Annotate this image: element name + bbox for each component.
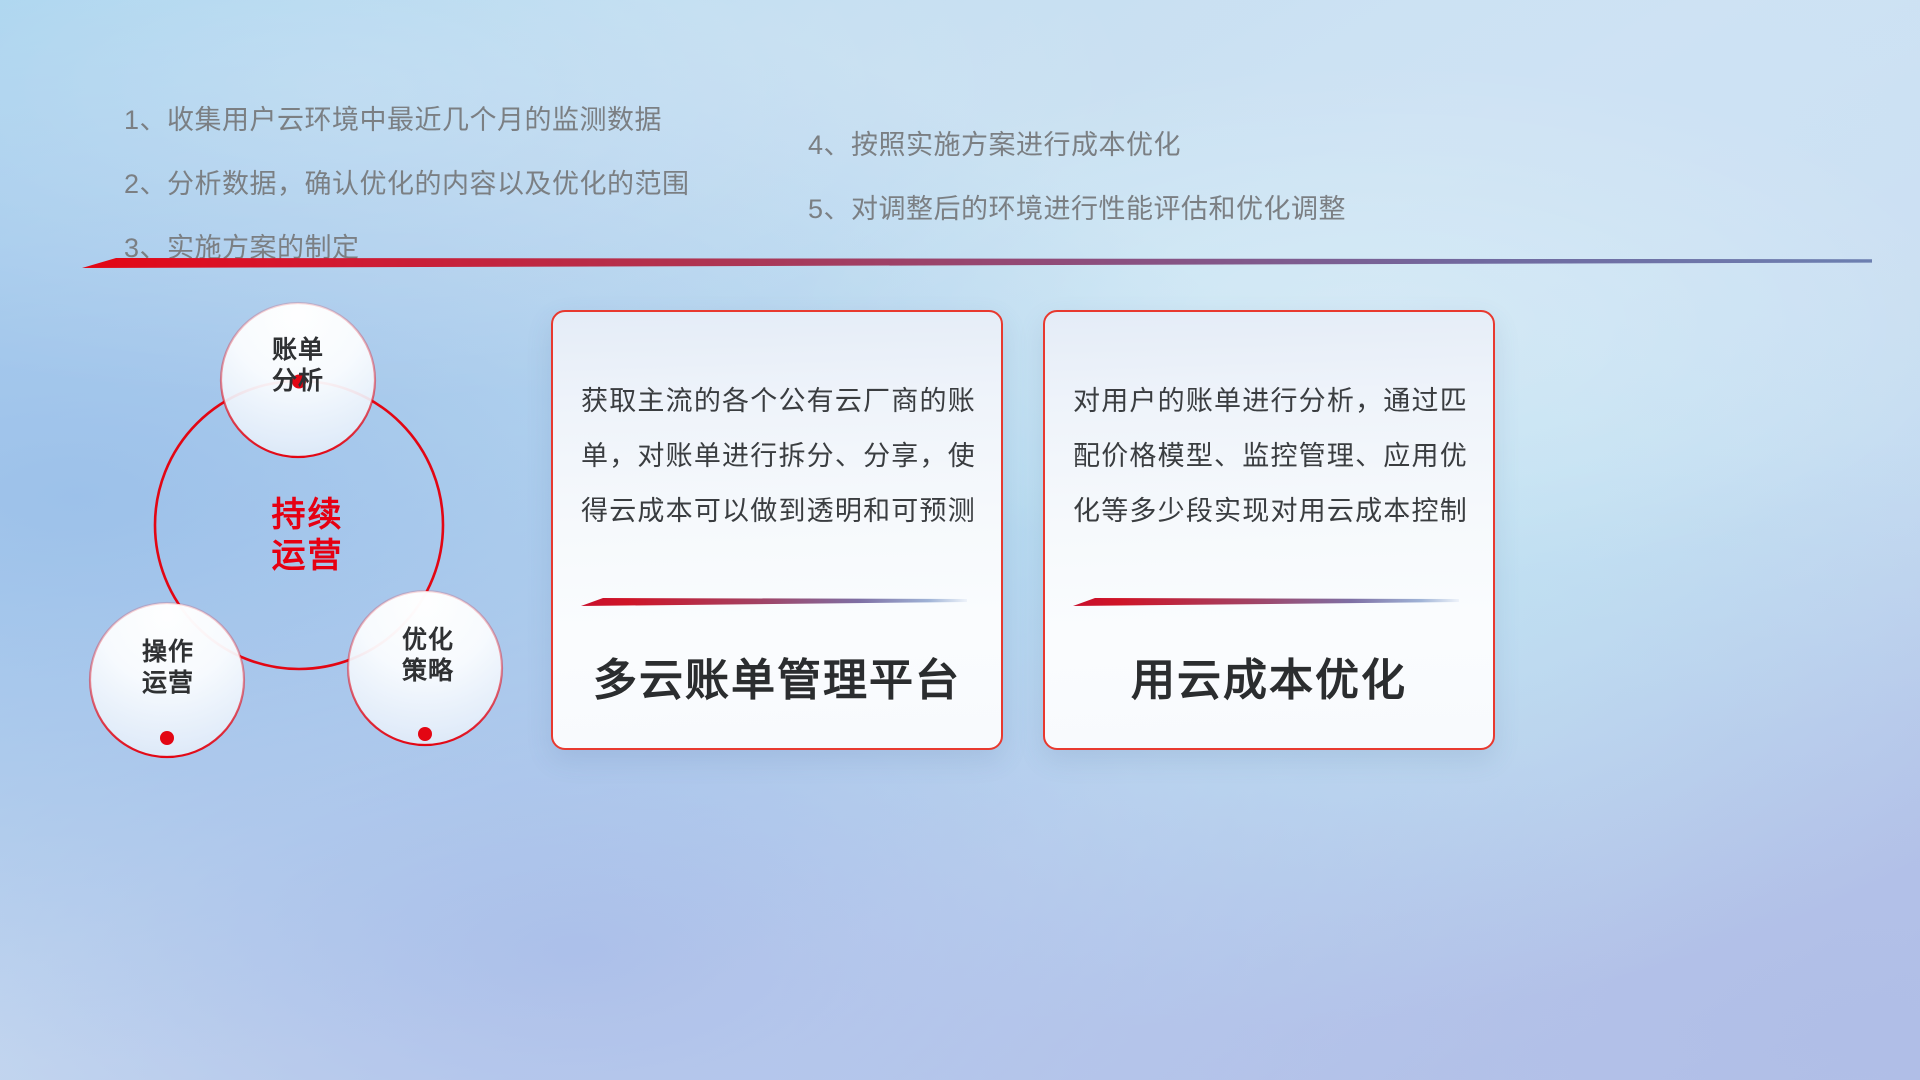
card-title: 多云账单管理平台 xyxy=(553,644,1001,708)
step-item: 2、分析数据，确认优化的内容以及优化的范围 xyxy=(124,162,690,201)
venn-node-bottom-left xyxy=(160,731,174,745)
info-card-billing-platform[interactable]: 获取主流的各个公有云厂商的账单，对账单进行拆分、分享，使得云成本可以做到透明和可… xyxy=(551,310,1003,750)
venn-diagram xyxy=(70,280,530,780)
venn-node-bottom-right xyxy=(418,727,432,741)
card-divider xyxy=(1073,596,1459,607)
card-title: 用云成本优化 xyxy=(1045,644,1493,708)
card-divider xyxy=(581,596,967,607)
step-item: 1、收集用户云环境中最近几个月的监测数据 xyxy=(124,98,690,137)
card-body-text: 对用户的账单进行分析，通过匹配价格模型、监控管理、应用优化等多少段实现对用云成本… xyxy=(1073,374,1467,538)
steps-right-column: 4、按照实施方案进行成本优化 5、对调整后的环境进行性能评估和优化调整 xyxy=(808,123,1346,251)
card-body-text: 获取主流的各个公有云厂商的账单，对账单进行拆分、分享，使得云成本可以做到透明和可… xyxy=(581,374,975,538)
step-item: 4、按照实施方案进行成本优化 xyxy=(808,123,1346,162)
step-item: 5、对调整后的环境进行性能评估和优化调整 xyxy=(808,187,1346,226)
venn-circle-policy xyxy=(348,591,502,745)
venn-node-top xyxy=(292,375,306,389)
header-divider xyxy=(82,255,1872,269)
info-card-cost-optimization[interactable]: 对用户的账单进行分析，通过匹配价格模型、监控管理、应用优化等多少段实现对用云成本… xyxy=(1043,310,1495,750)
